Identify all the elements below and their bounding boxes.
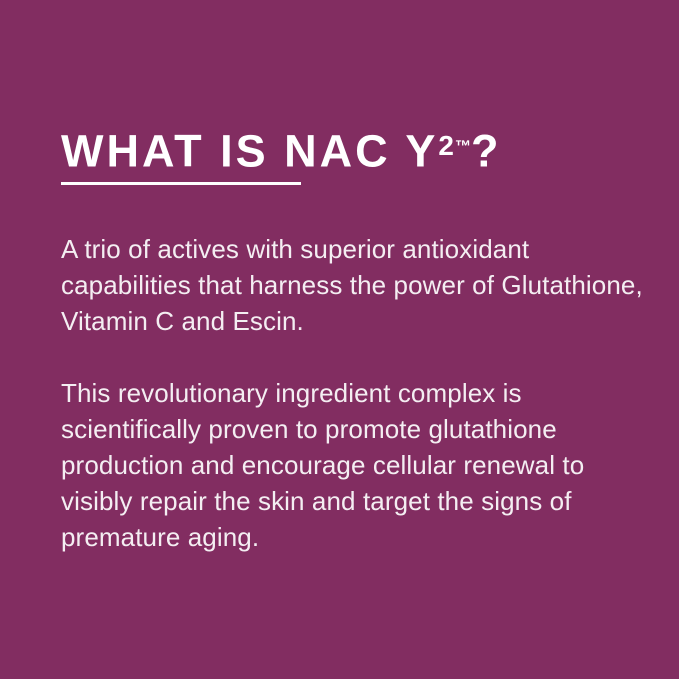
title-divider-rule	[61, 182, 301, 185]
trademark-symbol: ™	[455, 137, 471, 155]
body-copy: A trio of actives with superior antioxid…	[61, 231, 643, 555]
paragraph-2: This revolutionary ingredient complex is…	[61, 375, 643, 555]
page-title: WHAT IS NAC Y2™?	[61, 122, 499, 176]
page-title-main: WHAT IS NAC Y	[61, 126, 438, 177]
paragraph-1: A trio of actives with superior antioxid…	[61, 231, 643, 339]
product-info-panel: WHAT IS NAC Y2™? A trio of actives with …	[0, 0, 679, 679]
page-title-superscript: 2	[438, 130, 455, 161]
page-title-question-mark: ?	[471, 126, 499, 177]
